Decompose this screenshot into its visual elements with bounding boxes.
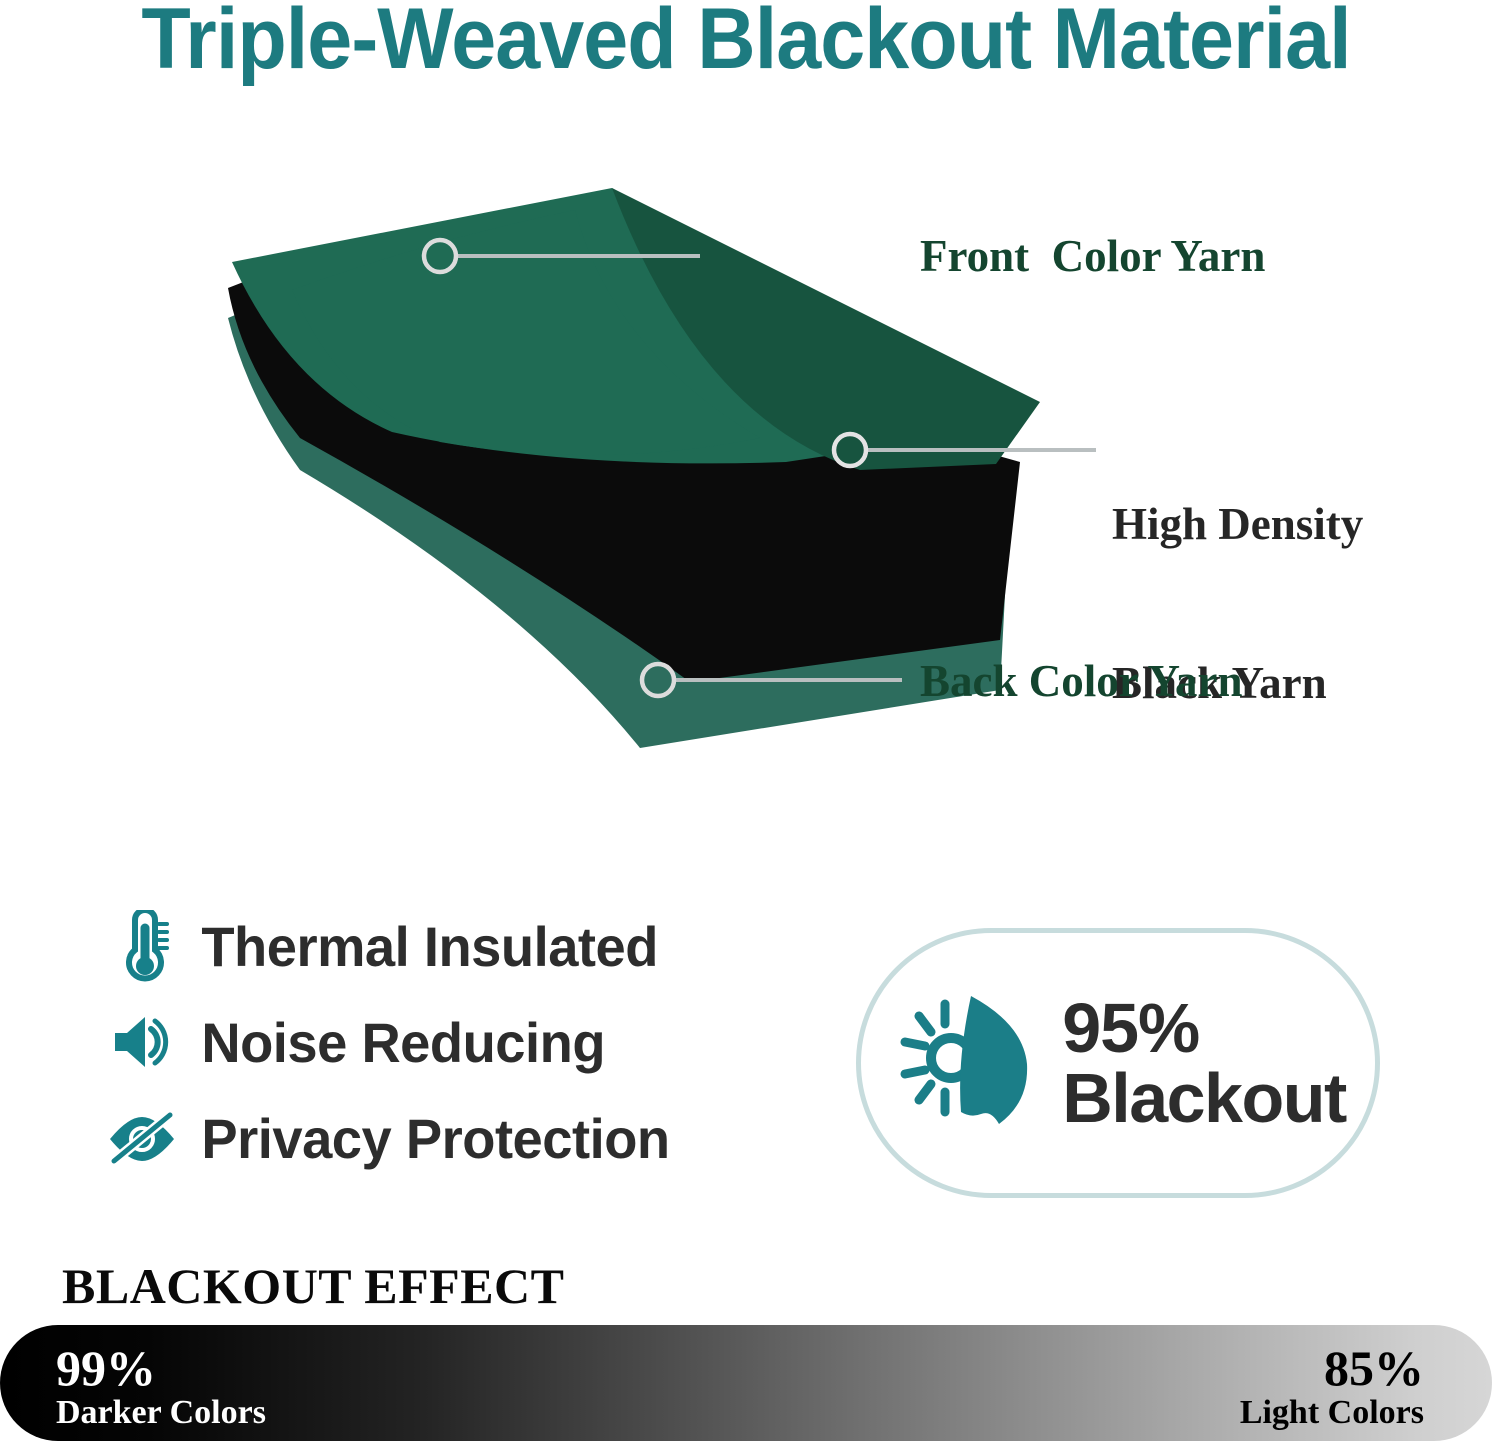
blackout-percentage-badge: 95% Blackout [856,928,1380,1198]
label-high-density-line1: High Density [1112,498,1363,551]
blackout-percent: 95% [1062,993,1346,1063]
blackout-effect-darker-colors: 99% Darker Colors [56,1343,266,1431]
darker-colors-percent: 99% [56,1343,266,1394]
thermometer-icon [104,910,180,982]
label-back-color-yarn: Back Color Yarn [920,655,1243,708]
blackout-effect-heading: BLACKOUT EFFECT [62,1257,565,1315]
sun-behind-curtain-icon [894,990,1044,1136]
feature-list: Thermal Insulated Noise Reducing Privacy… [104,898,804,1186]
feature-label-privacy-protection: Privacy Protection [180,1106,670,1171]
feature-item-noise-reducing: Noise Reducing [104,994,804,1090]
blackout-effect-light-colors: 85% Light Colors [1240,1343,1424,1431]
blackout-effect-gradient-bar: 99% Darker Colors 85% Light Colors [0,1325,1492,1441]
blackout-badge-text: 95% Blackout [1062,993,1346,1133]
darker-colors-caption: Darker Colors [56,1394,266,1431]
light-colors-percent: 85% [1240,1343,1424,1394]
feature-label-noise-reducing: Noise Reducing [180,1010,605,1075]
eye-slash-icon [104,1109,180,1167]
feature-item-thermal-insulated: Thermal Insulated [104,898,804,994]
light-colors-caption: Light Colors [1240,1394,1424,1431]
feature-item-privacy-protection: Privacy Protection [104,1090,804,1186]
speaker-sound-icon [104,1013,180,1071]
feature-label-thermal-insulated: Thermal Insulated [180,914,658,979]
blackout-word: Blackout [1062,1063,1346,1133]
page-title: Triple-Weaved Blackout Material [45,0,1447,84]
label-front-color-yarn: Front Color Yarn [920,230,1265,283]
